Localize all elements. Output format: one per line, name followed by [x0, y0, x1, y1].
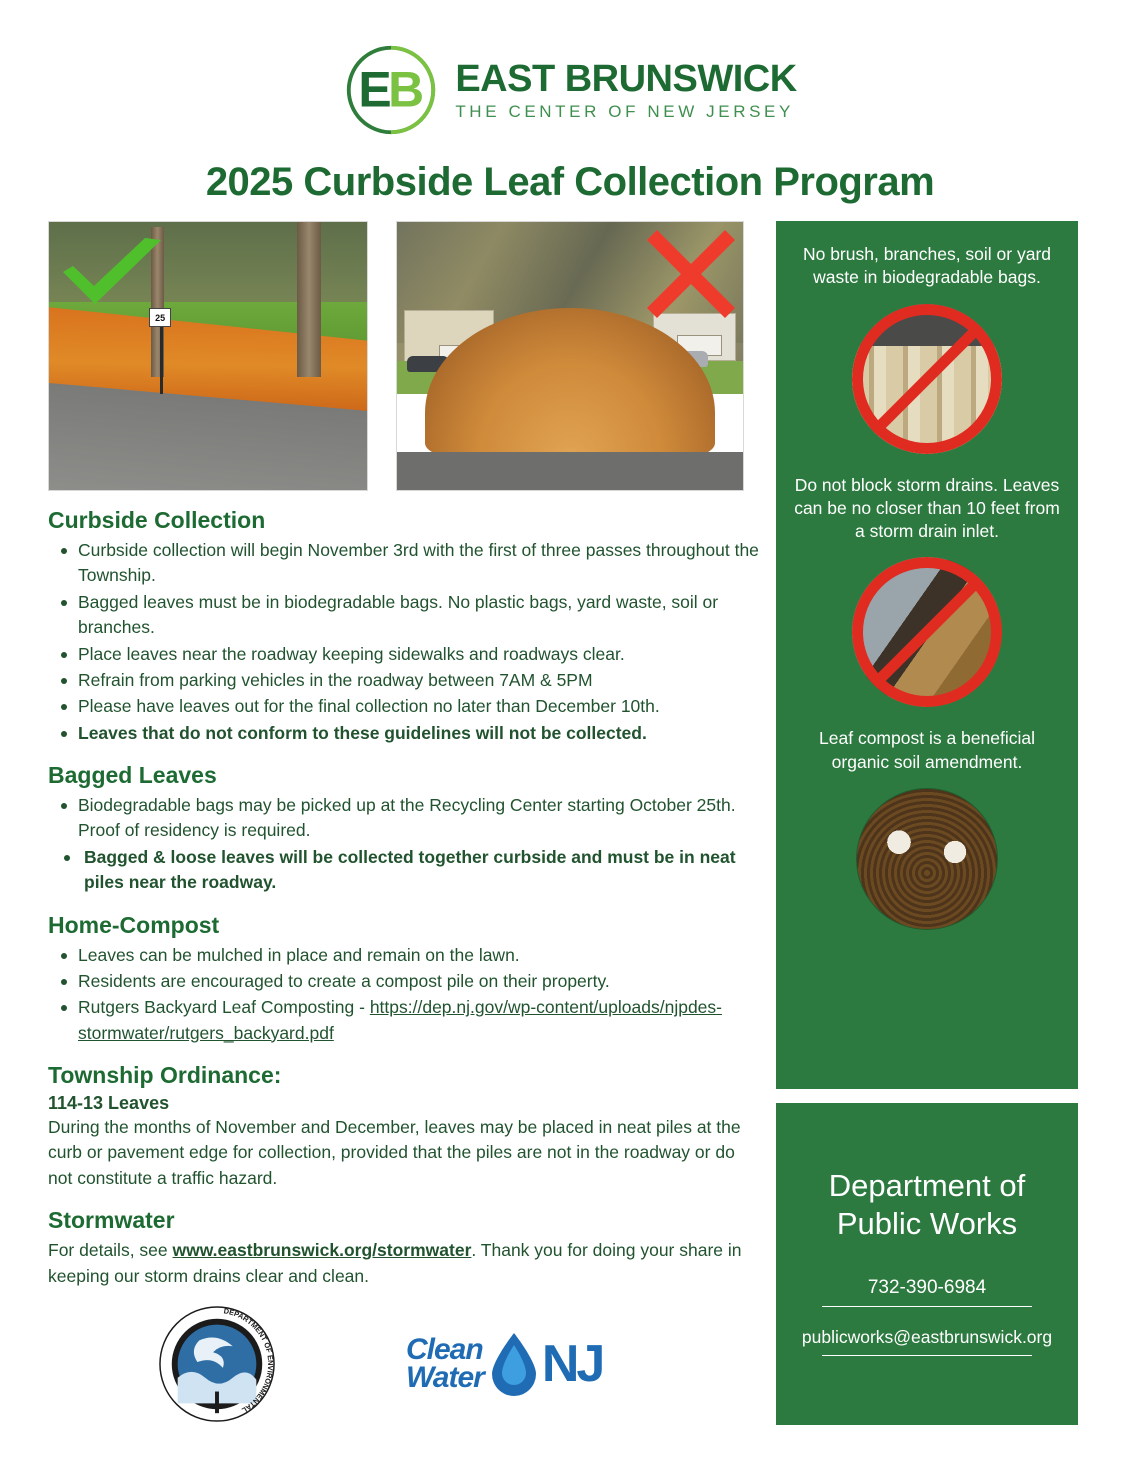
- divider: [822, 1306, 1033, 1307]
- brand-block: EAST BRUNSWICK THE CENTER OF NEW JERSEY: [455, 60, 796, 120]
- list-item: Place leaves near the roadway keeping si…: [48, 642, 760, 667]
- notice-text-leaf-compost: Leaf compost is a beneficial organic soi…: [792, 727, 1062, 774]
- link-prefix-text: Rutgers Backyard Leaf Composting -: [78, 997, 370, 1017]
- section-title: Curbside Collection: [48, 507, 760, 534]
- list-item: Leaves that do not conform to these guid…: [48, 721, 760, 746]
- stormwater-link[interactable]: www.eastbrunswick.org/stormwater: [173, 1240, 472, 1260]
- content-wrapper: 25: [0, 221, 1140, 1425]
- ordinance-body: During the months of November and Decemb…: [48, 1115, 760, 1191]
- section-curbside-collection: Curbside Collection Curbside collection …: [48, 507, 760, 746]
- section-title: Home-Compost: [48, 912, 760, 939]
- clean-water-line1: Clean: [406, 1336, 484, 1365]
- njdep-seal-icon: DEPARTMENT OF ENVIRONMENTAL: [158, 1305, 276, 1423]
- green-checkmark-icon: [57, 236, 167, 314]
- svg-text:E: E: [359, 61, 392, 117]
- ordinance-code: 114-13 Leaves: [48, 1093, 760, 1114]
- clean-water-nj-text: NJ: [542, 1338, 602, 1390]
- footer-logo-row: DEPARTMENT OF ENVIRONMENTAL Clean Water …: [48, 1305, 748, 1423]
- section-home-compost: Home-Compost Leaves can be mulched in pl…: [48, 912, 760, 1047]
- curbside-bullet-list: Curbside collection will begin November …: [48, 538, 760, 746]
- photo-incorrect-leaf-pile: [396, 221, 744, 491]
- photo-correct-leaf-pile: 25: [48, 221, 368, 491]
- list-item: Residents are encouraged to create a com…: [48, 969, 760, 994]
- section-stormwater: Stormwater For details, see www.eastbrun…: [48, 1207, 760, 1289]
- main-column: 25: [48, 221, 760, 1425]
- page-header: E B EAST BRUNSWICK THE CENTER OF NEW JER…: [0, 0, 1140, 138]
- water-drop-icon: [488, 1331, 540, 1397]
- list-item: Refrain from parking vehicles in the roa…: [48, 668, 760, 693]
- no-storm-drain-icon: [852, 557, 1002, 707]
- no-bags-icon: [852, 304, 1002, 454]
- section-title: Bagged Leaves: [48, 762, 760, 789]
- red-x-icon: [645, 228, 737, 320]
- sidebar-column: No brush, branches, soil or yard waste i…: [776, 221, 1078, 1425]
- section-title: Township Ordinance:: [48, 1062, 760, 1089]
- list-item: Leaves can be mulched in place and remai…: [48, 943, 760, 968]
- section-title: Stormwater: [48, 1207, 760, 1234]
- east-brunswick-logo-icon: E B: [343, 42, 439, 138]
- stormwater-prefix: For details, see: [48, 1240, 173, 1260]
- divider: [822, 1355, 1033, 1356]
- compost-icon: [856, 788, 998, 930]
- list-item-with-link: Rutgers Backyard Leaf Composting - https…: [48, 995, 760, 1046]
- photo-row: 25: [48, 221, 760, 491]
- brand-name: EAST BRUNSWICK: [455, 60, 796, 98]
- list-item: Biodegradable bags may be picked up at t…: [48, 793, 760, 844]
- list-item: Curbside collection will begin November …: [48, 538, 760, 589]
- page-title: 2025 Curbside Leaf Collection Program: [0, 160, 1140, 205]
- list-item: Bagged & loose leaves will be collected …: [48, 845, 760, 896]
- list-item: Bagged leaves must be in biodegradable b…: [48, 590, 760, 641]
- bagged-bullet-list: Biodegradable bags may be picked up at t…: [48, 793, 760, 896]
- sidebar-notices-panel: No brush, branches, soil or yard waste i…: [776, 221, 1078, 1089]
- notice-text-no-brush: No brush, branches, soil or yard waste i…: [792, 243, 1062, 290]
- brand-tagline: THE CENTER OF NEW JERSEY: [455, 103, 796, 120]
- stormwater-body: For details, see www.eastbrunswick.org/s…: [48, 1238, 760, 1289]
- clean-water-nj-logo: Clean Water NJ: [406, 1331, 602, 1397]
- dpw-email[interactable]: publicworks@eastbrunswick.org: [792, 1327, 1062, 1348]
- dpw-title: Department of Public Works: [792, 1167, 1062, 1243]
- svg-text:B: B: [388, 61, 424, 117]
- compost-bullet-list: Leaves can be mulched in place and remai…: [48, 943, 760, 1047]
- clean-water-line2: Water: [406, 1364, 484, 1393]
- dpw-contact-panel: Department of Public Works 732-390-6984 …: [776, 1103, 1078, 1425]
- notice-text-storm-drains: Do not block storm drains. Leaves can be…: [792, 474, 1062, 544]
- section-township-ordinance: Township Ordinance: 114-13 Leaves During…: [48, 1062, 760, 1191]
- list-item: Please have leaves out for the final col…: [48, 694, 760, 719]
- dpw-phone[interactable]: 732-390-6984: [792, 1277, 1062, 1299]
- section-bagged-leaves: Bagged Leaves Biodegradable bags may be …: [48, 762, 760, 896]
